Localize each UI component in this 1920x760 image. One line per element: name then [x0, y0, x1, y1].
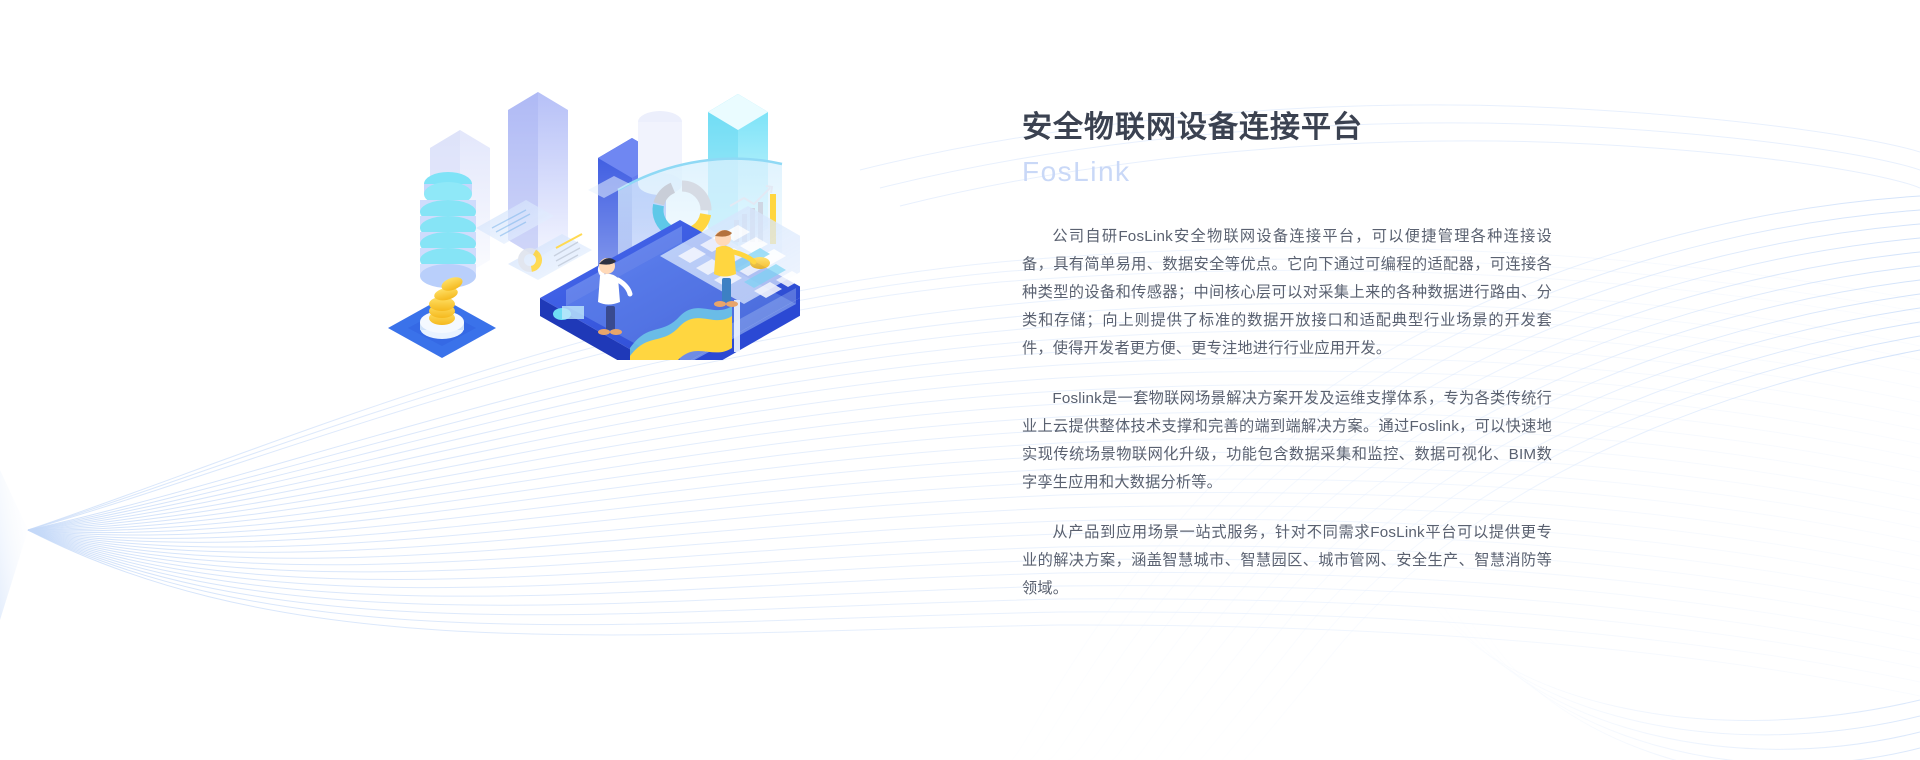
hero-copy: 安全物联网设备连接平台 FosLink 公司自研FosLink安全物联网设备连接…: [1022, 108, 1552, 603]
product-name-subtitle: FosLink: [1022, 151, 1552, 193]
hero-section: 安全物联网设备连接平台 FosLink 公司自研FosLink安全物联网设备连接…: [0, 0, 1920, 760]
description-paragraph-3: 从产品到应用场景一站式服务，针对不同需求FosLink平台可以提供更专业的解决方…: [1022, 519, 1552, 603]
description-paragraph-1: 公司自研FosLink安全物联网设备连接平台，可以便捷管理各种连接设备，具有简单…: [1022, 223, 1552, 363]
hero-illustration: [330, 60, 800, 360]
round-tiered-tower: [420, 172, 476, 288]
description-body: 公司自研FosLink安全物联网设备连接平台，可以便捷管理各种连接设备，具有简单…: [1022, 223, 1552, 603]
description-paragraph-2: Foslink是一套物联网场景解决方案开发及运维支撑体系，专为各类传统行业上云提…: [1022, 385, 1552, 497]
background-wave-decoration: [0, 0, 1920, 760]
coin-pedestal: [388, 275, 496, 358]
page-title: 安全物联网设备连接平台: [1022, 108, 1552, 149]
